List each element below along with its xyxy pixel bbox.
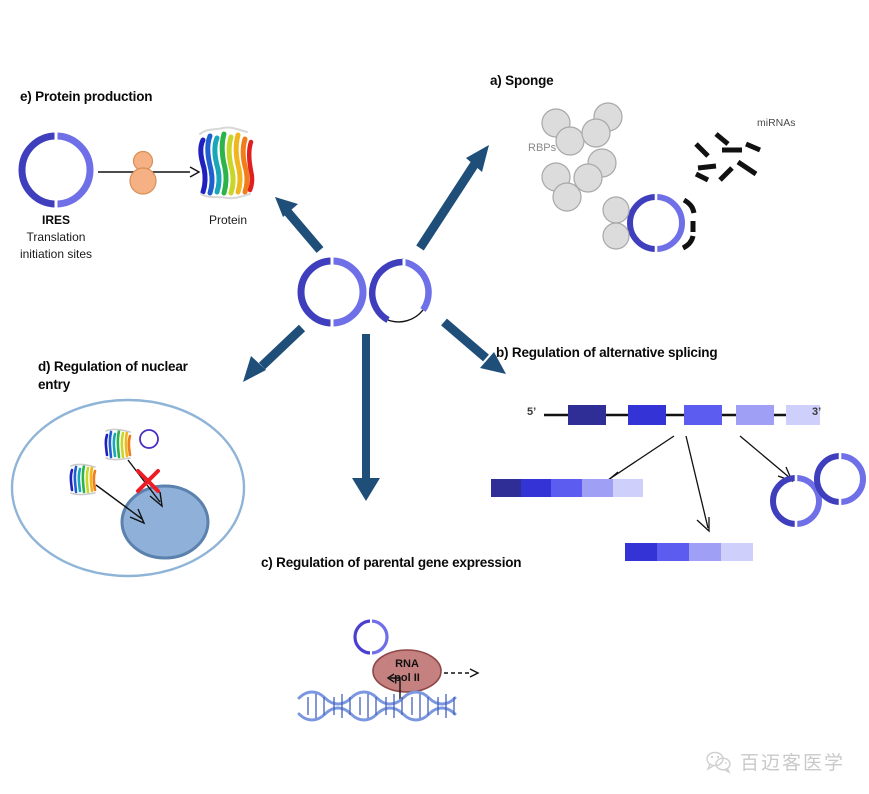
- section-c-heading: c) Regulation of parental gene expressio…: [261, 554, 521, 572]
- nuclear-entry-arrow: [94, 483, 152, 527]
- rbps-label: RBPs: [528, 142, 556, 154]
- hub-circrna-right: [368, 258, 440, 330]
- protein-structure-icon: [195, 124, 257, 200]
- arrow-down-left: [240, 322, 308, 386]
- nuclear-entry-circrna: [138, 428, 160, 450]
- pre-mrna-diagram: [528, 400, 828, 430]
- hub-circrna-left: [296, 256, 368, 328]
- dna-double-helix: [297, 688, 459, 724]
- section-e-heading: e) Protein production: [20, 88, 152, 106]
- figure-canvas: e) Protein production IRES Translation i…: [0, 0, 869, 794]
- sponge-circrna: [625, 192, 687, 254]
- sponge-bound-mirnas: [680, 192, 706, 254]
- mirnas-label: miRNAs: [757, 117, 796, 129]
- arrow-down: [350, 334, 382, 502]
- arrow-up-right: [414, 142, 492, 254]
- three-prime-label: 3’: [812, 406, 821, 418]
- watermark: 百迈客医学: [706, 748, 845, 775]
- ires-circrna: [14, 128, 98, 212]
- isoform-bar-bottom: [625, 543, 753, 561]
- section-d-heading: d) Regulation of nuclear entry: [38, 358, 188, 394]
- mirna-cluster: [694, 128, 774, 190]
- wechat-icon: [706, 751, 732, 773]
- sponge-bound-rbps: [600, 196, 632, 252]
- section-a-heading: a) Sponge: [490, 72, 553, 90]
- five-prime-label: 5’: [527, 406, 536, 418]
- splicing-product-circrna-2: [812, 451, 868, 507]
- isoform-bar-top: [491, 479, 643, 497]
- section-b-heading: b) Regulation of alternative splicing: [496, 344, 717, 362]
- watermark-text: 百迈客医学: [740, 748, 845, 775]
- ires-label: IRES: [6, 213, 106, 227]
- translation-initiation-sites-label: Translation initiation sites: [0, 229, 112, 263]
- transcript-output-arrow: [444, 665, 480, 681]
- protein-label: Protein: [190, 212, 266, 229]
- ribosome-icon: [126, 150, 160, 196]
- splice-arrow-middle: [682, 432, 718, 536]
- arrow-up-left: [272, 194, 326, 256]
